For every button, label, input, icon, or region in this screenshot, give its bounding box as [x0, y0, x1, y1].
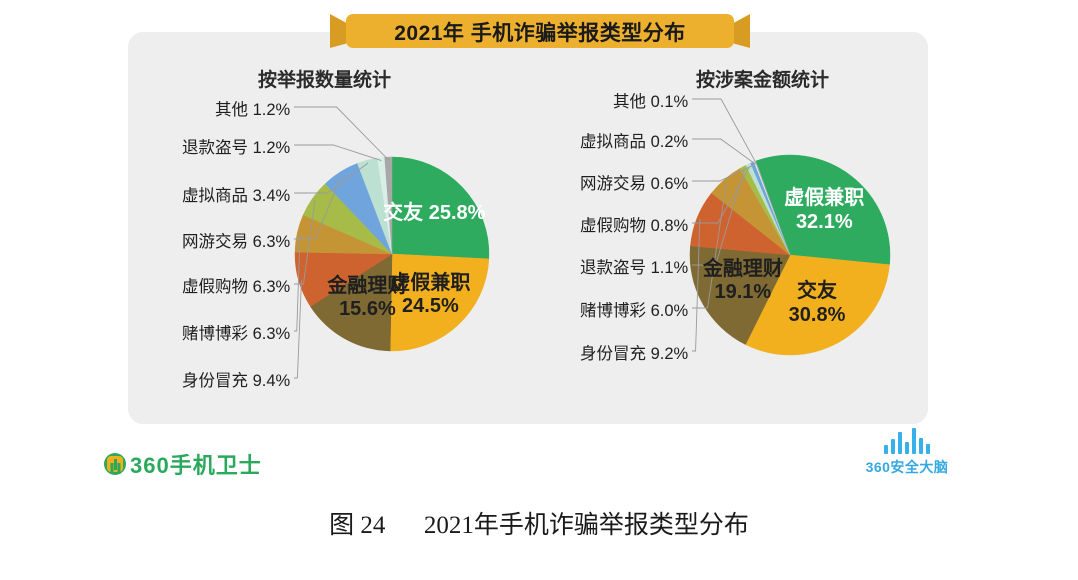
- pie-outside-label: 虚拟商品 3.4%: [182, 182, 290, 206]
- figure-number: 图 24: [329, 512, 385, 539]
- pie-outside-label: 赌博博彩 6.3%: [182, 320, 290, 344]
- pie-outside-label: 网游交易 0.6%: [580, 170, 688, 194]
- pie-outside-label: 虚假购物 6.3%: [182, 273, 290, 297]
- right-chart-title: 按涉案金额统计: [696, 65, 829, 92]
- waveform-icon: [852, 428, 962, 454]
- logo-360-mobile-guard: 360手机卫士: [104, 448, 262, 480]
- pie-inside-label: 交友30.8%: [789, 280, 846, 327]
- pie-outside-label: 赌博博彩 6.0%: [580, 297, 688, 321]
- shield-plus-icon: [104, 453, 126, 475]
- logo-360-security-brain: 360安全大脑: [852, 428, 962, 477]
- pie-outside-label: 网游交易 6.3%: [182, 228, 290, 252]
- left-chart-title: 按举报数量统计: [258, 65, 391, 92]
- pie-outside-label: 退款盗号 1.1%: [580, 254, 688, 278]
- pie-inside-label: 金融理财15.6%: [327, 275, 407, 322]
- figure-caption-text: 2021年手机诈骗举报类型分布: [424, 512, 749, 539]
- pie-outside-label: 虚拟商品 0.2%: [580, 128, 688, 152]
- pie-outside-label: 退款盗号 1.2%: [182, 134, 290, 158]
- logo-360-mobile-guard-text: 360手机卫士: [130, 448, 262, 480]
- figure-root: 2021年 手机诈骗举报类型分布 按举报数量统计 交友 25.8%虚假兼职24.…: [0, 0, 1078, 580]
- pie-outside-label: 其他 1.2%: [215, 96, 290, 120]
- pie-outside-label: 身份冒充 9.2%: [580, 340, 688, 364]
- pie-inside-label: 交友 25.8%: [383, 202, 485, 226]
- pie-inside-label: 金融理财19.1%: [703, 258, 783, 305]
- pie-outside-label: 虚假购物 0.8%: [580, 212, 688, 236]
- figure-caption: 图 24 2021年手机诈骗举报类型分布: [0, 505, 1078, 541]
- pie-inside-label: 虚假兼职32.1%: [784, 187, 864, 234]
- pie-outside-label: 其他 0.1%: [613, 88, 688, 112]
- pie-outside-label: 身份冒充 9.4%: [182, 367, 290, 391]
- logo-360-security-brain-text: 360安全大脑: [852, 457, 962, 477]
